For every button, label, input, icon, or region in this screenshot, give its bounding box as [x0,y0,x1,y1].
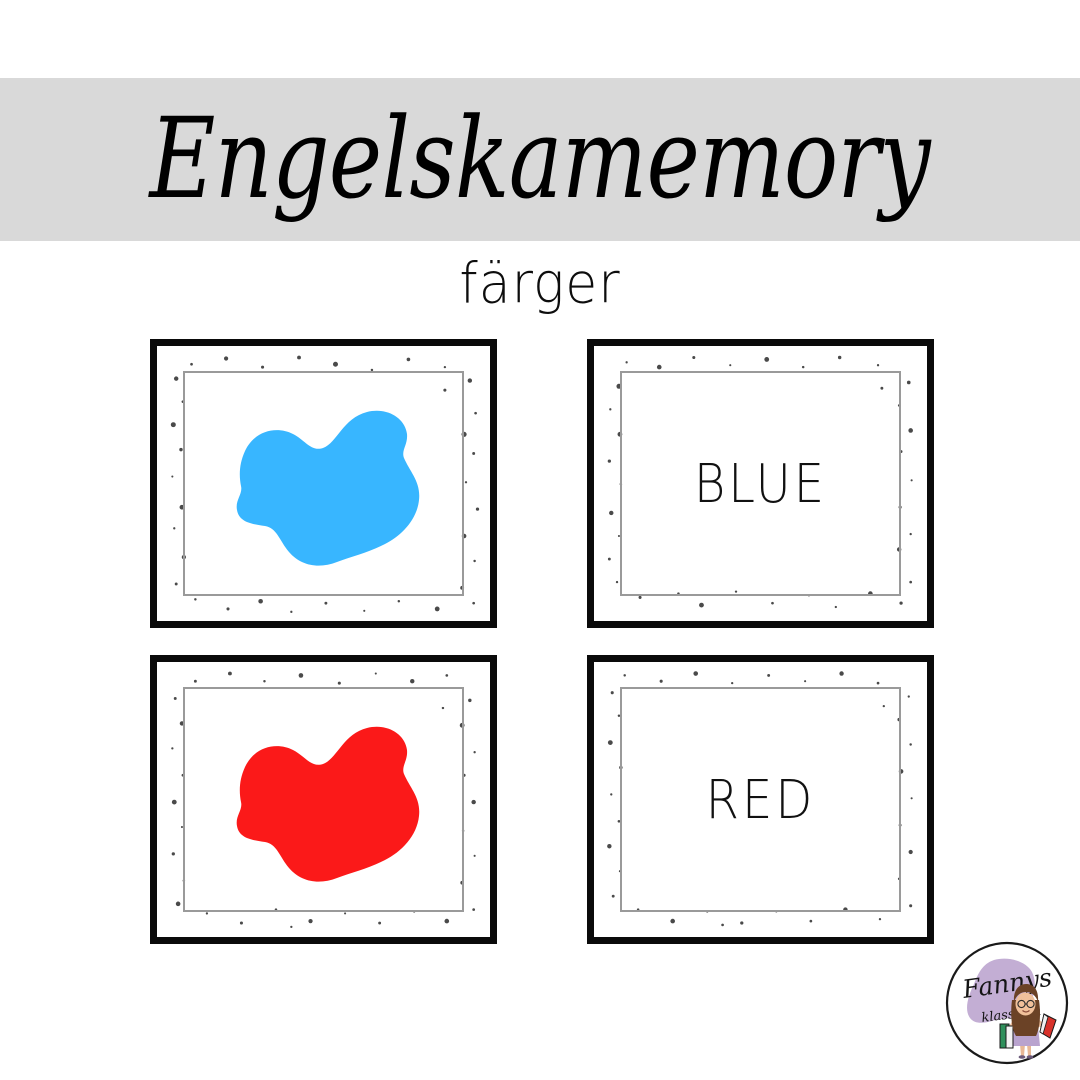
page-subtitle: färger [0,256,1080,312]
card-inner-frame: BLUE [620,371,901,596]
card-word-label: RED [706,768,816,831]
blob-shape-icon [215,396,433,574]
memory-card-blue-color[interactable] [150,339,497,628]
card-word-label: BLUE [694,452,827,515]
color-swatch-red [185,689,462,910]
blob-shape-icon [215,712,433,890]
card-inner-frame [183,371,464,596]
color-swatch-blue [185,373,462,594]
card-inner-frame [183,687,464,912]
memory-card-red-color[interactable] [150,655,497,944]
title-banner: Engelskamemory [0,78,1080,241]
memory-card-blue-word[interactable]: BLUE [587,339,934,628]
memory-card-red-word[interactable]: RED [587,655,934,944]
page-title: Engelskamemory [150,104,930,215]
blob-path [236,726,419,881]
fannys-klassrum-logo[interactable]: Fannys klassrum [944,940,1070,1066]
blob-path [236,410,419,565]
card-inner-frame: RED [620,687,901,912]
memory-card-grid: BLUE [150,339,934,940]
